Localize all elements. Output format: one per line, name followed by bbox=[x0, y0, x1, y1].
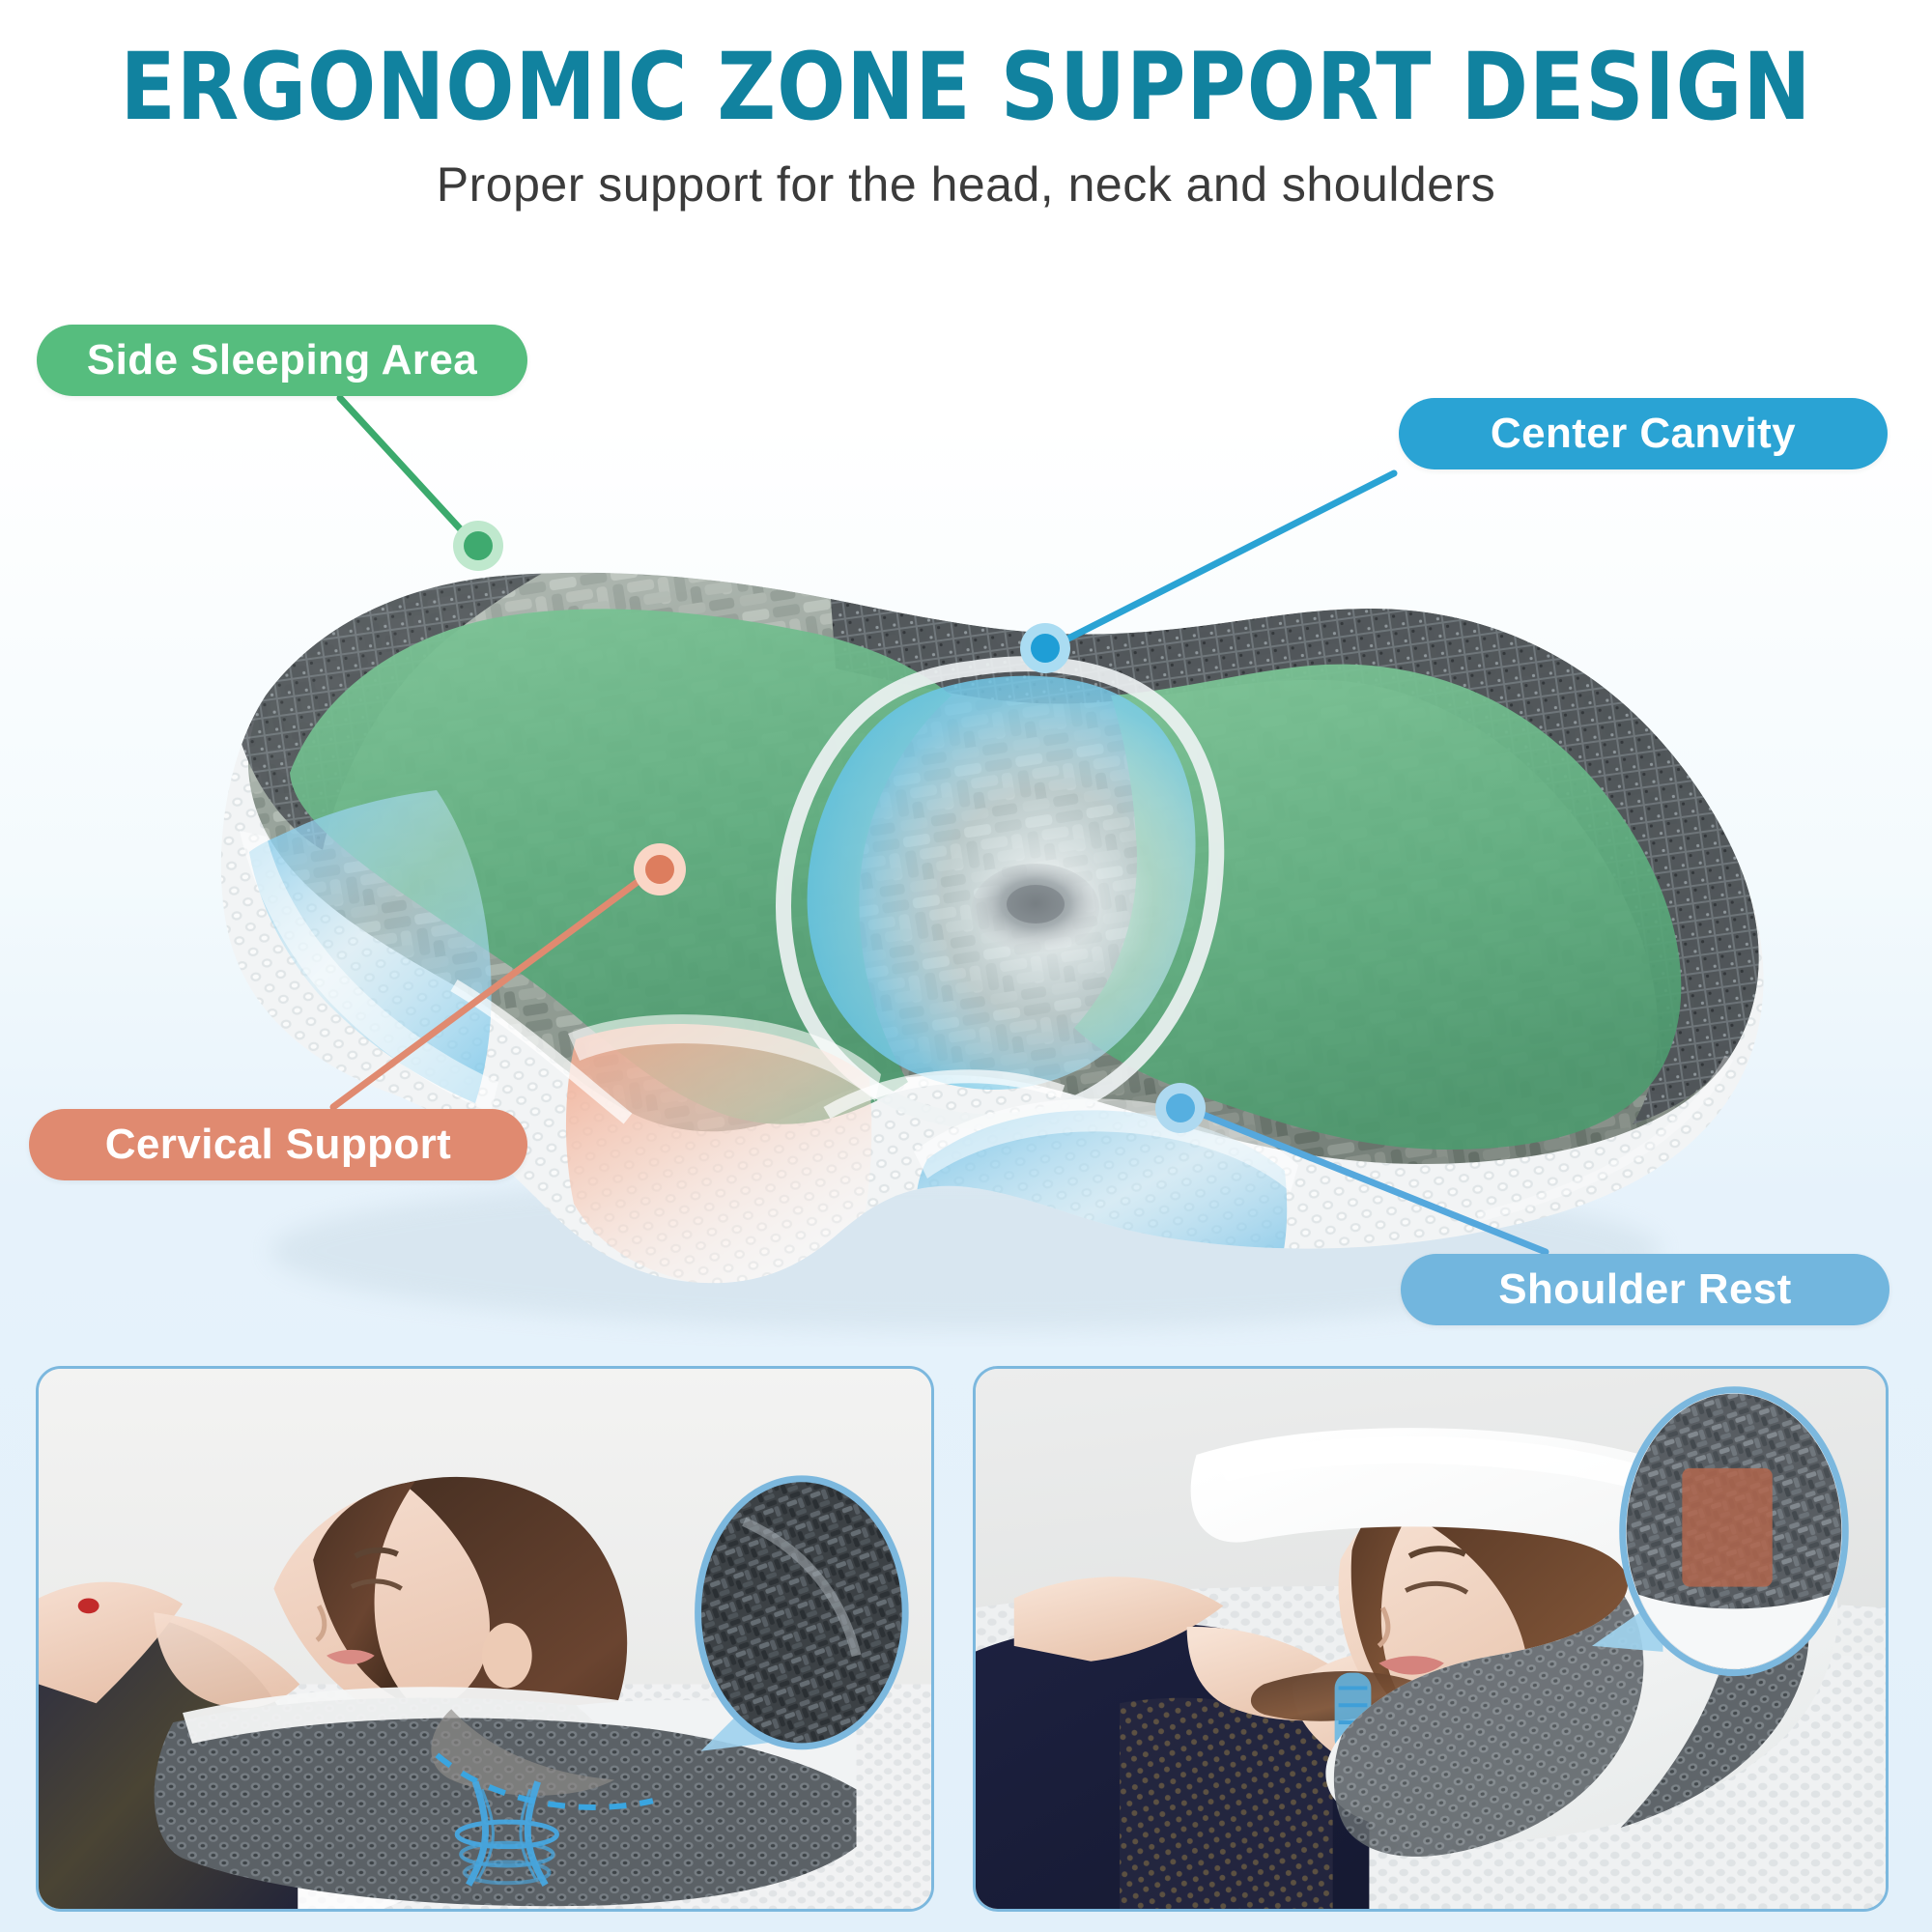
page-subtitle: Proper support for the head, neck and sh… bbox=[0, 156, 1932, 213]
inset-cervical-zone bbox=[1682, 1468, 1772, 1587]
photo-panel-back-sleeping[interactable] bbox=[973, 1366, 1889, 1912]
inset-oval bbox=[698, 1479, 906, 1747]
callout-cervical-support[interactable]: Cervical Support bbox=[29, 1109, 527, 1180]
leader-line-side-sleeping bbox=[340, 398, 469, 539]
callout-label: Center Canvity bbox=[1491, 410, 1796, 458]
page-title: ERGONOMIC ZONE SUPPORT DESIGN bbox=[29, 41, 1903, 133]
callout-shoulder-rest[interactable]: Shoulder Rest bbox=[1401, 1254, 1889, 1325]
callout-side-sleeping-area[interactable]: Side Sleeping Area bbox=[37, 325, 527, 396]
nail-polish bbox=[78, 1598, 99, 1613]
header: ERGONOMIC ZONE SUPPORT DESIGN Proper sup… bbox=[0, 0, 1932, 213]
photo-panel-side-sleeping[interactable] bbox=[36, 1366, 934, 1912]
fabric-closeup-inset bbox=[698, 1479, 906, 1751]
callout-label: Side Sleeping Area bbox=[87, 336, 477, 384]
ear bbox=[482, 1623, 532, 1688]
callout-label: Cervical Support bbox=[105, 1121, 452, 1169]
callout-dot-side-sleeping bbox=[453, 521, 503, 571]
callout-dot-shoulder-rest bbox=[1155, 1083, 1206, 1133]
lace-panel bbox=[1120, 1698, 1333, 1909]
inset-oval bbox=[1623, 1390, 1846, 1673]
callout-label: Shoulder Rest bbox=[1498, 1265, 1791, 1314]
callout-dot-center-canvity bbox=[1020, 623, 1070, 673]
callout-dot-cervical-support bbox=[634, 843, 686, 895]
callout-center-canvity[interactable]: Center Canvity bbox=[1399, 398, 1888, 469]
